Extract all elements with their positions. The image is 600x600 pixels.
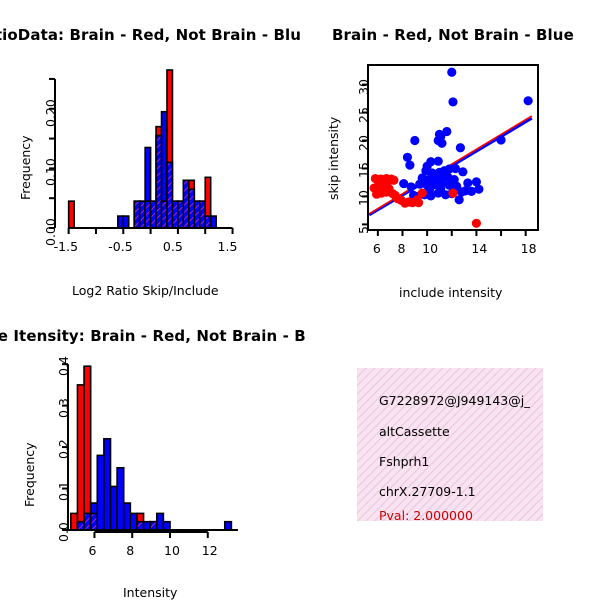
ratio-histogram-ylabel: Frequency [18,135,33,200]
histogram-bar-overlap [134,201,139,228]
histogram-bar [123,216,128,228]
x-tick-label: 6 [373,241,381,256]
panel-intensity-histogram: ne Itensity: Brain - Red, Not Brain - B … [0,310,300,600]
y-tick-label: 10 [356,191,371,207]
x-tick-label: 12 [202,543,218,558]
histogram-bar-overlap [151,201,156,228]
x-tick-label: 18 [521,241,537,256]
histogram-bar [71,513,78,530]
scatter-point [407,182,416,191]
histogram-bar [117,468,124,530]
histogram-bar-overlap [172,201,177,228]
scatter-point [410,136,419,145]
x-tick-label: -1.5 [54,239,78,254]
histogram-bar-overlap [84,513,91,530]
intensity-histogram-plot [0,310,300,600]
x-tick-label: 1.5 [218,239,238,254]
x-tick-label: 10 [164,543,180,558]
histogram-bar-overlap [167,162,172,228]
x-tick-label: 14 [471,241,487,256]
x-tick-label: 6 [88,543,96,558]
scatter-point [403,153,412,162]
y-tick-label: 15 [356,163,371,179]
histogram-bar [163,522,170,530]
info-line-locus: chrX.27709-1.1 [379,484,476,499]
histogram-bar [144,522,151,530]
scatter-point [436,184,445,193]
scatter-point [389,176,398,185]
scatter-point [447,68,456,77]
y-tick-label: 0.0 [56,522,71,542]
histogram-bar-overlap [178,201,183,228]
y-tick-label: 0.1 [56,481,71,501]
y-tick-label: 30 [356,79,371,95]
x-tick-label: -0.5 [108,239,132,254]
scatter-point [524,96,533,105]
intensity-histogram-title: ne Itensity: Brain - Red, Not Brain - B [0,327,306,345]
histogram-bar [97,455,104,530]
panel-scatter: Brain - Red, Not Brain - Blue skip inten… [300,0,600,310]
plot-frame [368,65,538,230]
y-tick-label: 0.4 [56,356,71,376]
histogram-bar [104,439,111,530]
info-line-pval: Pval: 2.000000 [379,508,473,521]
scatter-point [456,143,465,152]
intensity-histogram-ylabel: Frequency [22,442,37,507]
scatter-point [448,97,457,106]
histogram-bar [111,486,118,530]
histogram-bar-overlap [150,522,157,530]
scatter-point [381,181,390,190]
x-tick-label: 10 [422,241,438,256]
x-tick-label: 8 [126,543,134,558]
histogram-bar [118,216,123,228]
scatter-point [463,178,472,187]
histogram-bar [130,513,137,530]
y-tick-label: 0.20 [43,99,58,127]
histogram-bar-overlap [156,136,161,228]
histogram-bar-overlap [137,522,144,530]
y-tick-label: 5 [356,226,371,234]
scatter-xlabel: include intensity [399,285,502,300]
x-tick-label: 0.5 [163,239,183,254]
intensity-histogram-xlabel: Intensity [123,585,177,600]
figure-canvas: RatioData: Brain - Red, Not Brain - Blu … [0,0,600,600]
scatter-title: Brain - Red, Not Brain - Blue [332,26,574,44]
info-text-clip: G7228972@J949143@j_ altCassette Fshprh1 … [357,368,543,521]
histogram-bar [225,522,232,530]
ratio-histogram-title: RatioData: Brain - Red, Not Brain - Blu [0,26,301,44]
y-tick-label: 0.2 [56,439,71,459]
info-line-id: G7228972@J949143@j_ [379,393,530,408]
histogram-bar [69,201,74,228]
scatter-point [418,188,427,197]
scatter-point [437,139,446,148]
info-line-event: altCassette [379,424,450,439]
histogram-bar [84,366,91,530]
ratio-histogram-plot [0,0,300,310]
y-tick-label: 0.10 [43,159,58,187]
scatter-ylabel: skip intensity [326,117,341,200]
histogram-bar-overlap [91,513,98,530]
scatter-plot [300,0,600,310]
ratio-histogram-xlabel: Log2 Ratio Skip/Include [72,283,219,298]
histogram-bar [124,503,131,530]
panel-info: G7228972@J949143@j_ altCassette Fshprh1 … [357,368,543,521]
x-tick-label: 8 [397,241,405,256]
histogram-bar-overlap [189,189,194,228]
scatter-point [448,188,457,197]
scatter-point [472,219,481,228]
y-tick-label: 25 [356,107,371,123]
histogram-bar-overlap [162,201,167,228]
histogram-bar-overlap [200,201,205,228]
histogram-bar [211,216,216,228]
histogram-bar-overlap [205,216,210,228]
scatter-point [467,187,476,196]
scatter-point [414,198,423,207]
scatter-point [405,161,414,170]
info-line-gene: Fshprh1 [379,454,429,469]
histogram-bar [77,385,84,530]
scatter-point [496,135,505,144]
panel-ratio-histogram: RatioData: Brain - Red, Not Brain - Blu … [0,0,300,310]
histogram-bar-overlap [183,180,188,228]
y-tick-label: 20 [356,135,371,151]
histogram-bar-overlap [145,201,150,228]
scatter-point [458,167,467,176]
histogram-bar-overlap [140,201,145,228]
scatter-point [434,157,443,166]
histogram-bar-overlap [77,522,84,530]
histogram-bar-overlap [194,201,199,228]
histogram-bar [157,513,164,530]
y-tick-label: 0.3 [56,398,71,418]
